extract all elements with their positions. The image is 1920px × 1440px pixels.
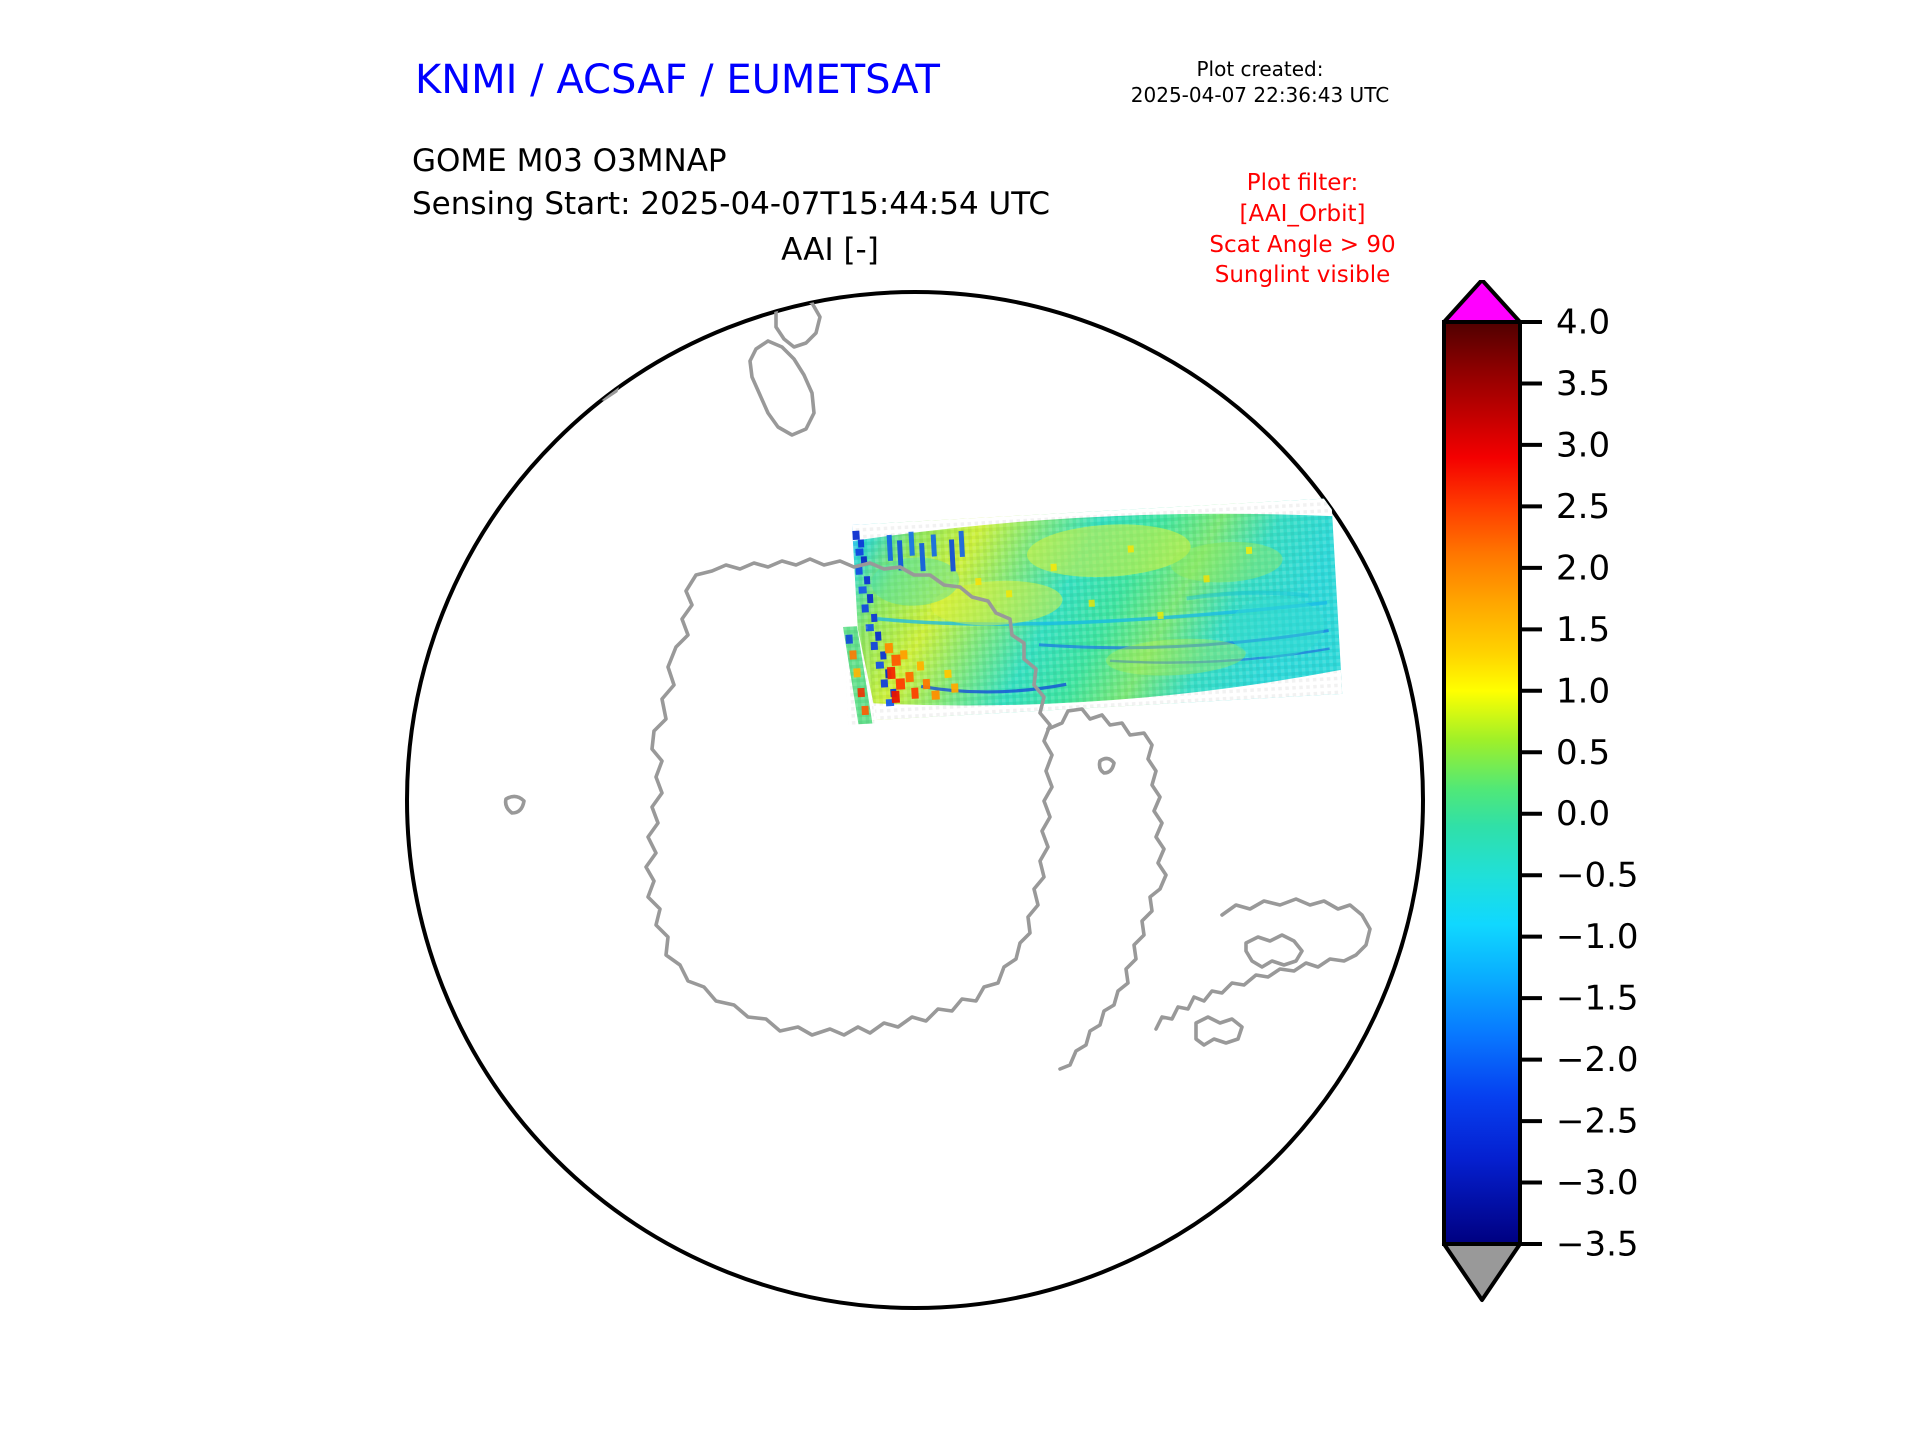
colorbar-tick-label: 2.5 <box>1556 487 1610 527</box>
colorbar-tick-label: 3.0 <box>1556 425 1610 465</box>
colorbar-over-arrow <box>1444 280 1520 322</box>
polar-map <box>400 275 1430 1325</box>
colorbar-tick-label: −0.5 <box>1556 856 1639 896</box>
colorbar-gradient <box>1444 322 1520 1244</box>
plot-filter-line-2: Scat Angle > 90 <box>1160 230 1445 261</box>
sensing-start-line: Sensing Start: 2025-04-07T15:44:54 UTC <box>412 183 1050 226</box>
colorbar-ticks <box>1520 322 1542 1244</box>
colorbar-svg: 4.03.53.02.52.01.51.00.50.0−0.5−1.0−1.5−… <box>1430 280 1760 1310</box>
colorbar: 4.03.53.02.52.01.51.00.50.0−0.5−1.0−1.5−… <box>1430 280 1760 1310</box>
colorbar-tick-label: −3.5 <box>1556 1225 1639 1265</box>
plot-page: KNMI / ACSAF / EUMETSAT Plot created: 20… <box>0 0 1920 1440</box>
colorbar-tick-label: −2.0 <box>1556 1040 1639 1080</box>
colorbar-tick-label: 0.5 <box>1556 733 1610 773</box>
colorbar-tick-label: 1.0 <box>1556 671 1610 711</box>
quantity-title: AAI [-] <box>500 232 1160 268</box>
colorbar-tick-label: 3.5 <box>1556 364 1610 404</box>
map-svg <box>400 275 1430 1325</box>
instrument-line: GOME M03 O3MNAP <box>412 140 1050 183</box>
plot-created-value: 2025-04-07 22:36:43 UTC <box>1075 82 1445 108</box>
colorbar-tick-label: 2.0 <box>1556 548 1610 588</box>
plot-created-label: Plot created: <box>1075 56 1445 82</box>
colorbar-tick-label: −2.5 <box>1556 1102 1639 1142</box>
plot-created-block: Plot created: 2025-04-07 22:36:43 UTC <box>1075 56 1445 109</box>
colorbar-tick-label: 1.5 <box>1556 610 1610 650</box>
product-info-block: GOME M03 O3MNAP Sensing Start: 2025-04-0… <box>412 140 1050 226</box>
tasmania-coastline <box>582 361 620 399</box>
colorbar-tick-labels: 4.03.53.02.52.01.51.00.50.0−0.5−1.0−1.5−… <box>1556 303 1639 1265</box>
organisation-title: KNMI / ACSAF / EUMETSAT <box>415 57 940 103</box>
plot-filter-heading: Plot filter: <box>1160 168 1445 199</box>
colorbar-tick-label: −1.0 <box>1556 917 1639 957</box>
globe-outline <box>407 292 1423 1308</box>
colorbar-tick-label: −3.0 <box>1556 1163 1639 1203</box>
plot-filter-block: Plot filter: [AAI_Orbit] Scat Angle > 90… <box>1160 168 1445 291</box>
plot-filter-line-1: [AAI_Orbit] <box>1160 199 1445 230</box>
data-swath <box>843 498 1375 725</box>
colorbar-tick-label: −1.5 <box>1556 979 1639 1019</box>
colorbar-tick-label: 4.0 <box>1556 303 1610 343</box>
colorbar-tick-label: 0.0 <box>1556 794 1610 834</box>
colorbar-under-arrow <box>1444 1244 1520 1300</box>
